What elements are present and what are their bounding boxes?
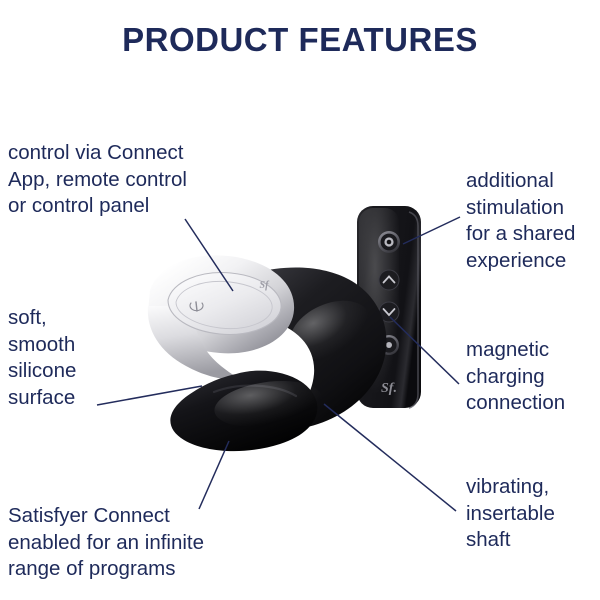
leader-vibrating (324, 404, 456, 511)
power-button[interactable] (378, 231, 400, 253)
callout-magnetic-charging: magnetic charging connection (466, 337, 600, 417)
leader-connect (199, 441, 229, 509)
callout-additional-stimulation: additional stimulation for a shared expe… (466, 168, 600, 275)
page-title: PRODUCT FEATURES (0, 22, 600, 58)
product-features-infographic: Sf. Sf (0, 0, 600, 600)
remote-logo: Sf. (381, 381, 397, 396)
callout-control-via-connect: control via Connect App, remote control … (8, 140, 240, 220)
product-device: Sf (148, 255, 387, 451)
callout-vibrating-shaft: vibrating, insertable shaft (466, 474, 600, 554)
callout-satisfyer-connect: Satisfyer Connect enabled for an infinit… (8, 503, 268, 583)
callout-soft-silicone-surface: soft, smooth silicone surface (8, 305, 138, 412)
intensity-up-button[interactable] (379, 270, 399, 290)
